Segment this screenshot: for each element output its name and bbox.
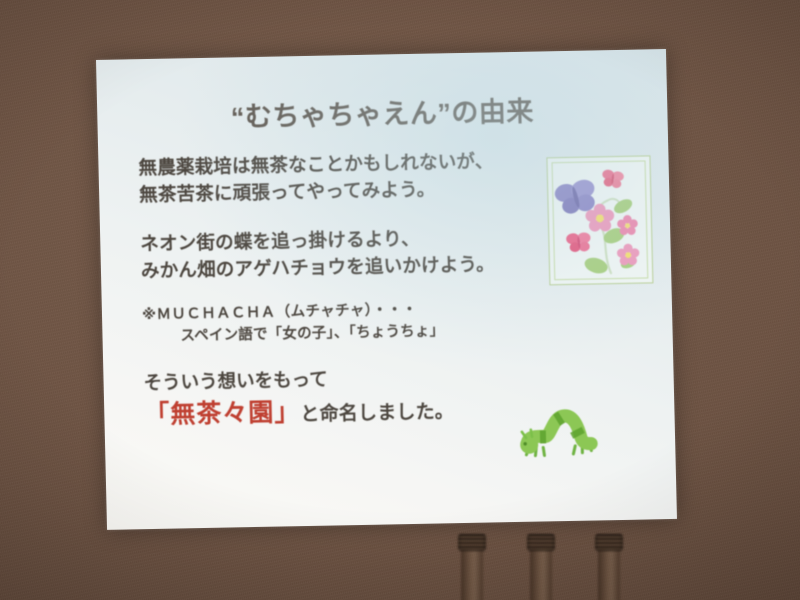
company-name-highlight: 「無茶々園」: [144, 398, 301, 429]
closing-tail: と命名しました。: [300, 401, 454, 425]
closing-line-2: 「無茶々園」と命名しました。: [144, 393, 454, 433]
bottle-2: [524, 530, 558, 600]
slide-paragraph-1: 無農薬栽培は無茶なことかもしれないが、 無茶苦茶に頑張ってやってみよう。: [138, 148, 494, 208]
bottle-1: [455, 530, 489, 600]
slide-surface: “むちゃちゃえん”の由来 無農薬栽培は無茶なことかもしれないが、 無茶苦茶に頑張…: [96, 49, 677, 530]
closing-line-1: そういう想いをもって: [143, 369, 328, 394]
bottle-neck: [598, 548, 620, 600]
slide-title: “むちゃちゃえん”の由来: [97, 87, 668, 137]
bottle-neck: [461, 548, 483, 600]
bottle-cap: [458, 534, 486, 551]
slide-footnote: ※ＭＵＣＨＡＣＨＡ（ムチャチャ）・・・ スペイン語で「女の子」、「ちょうちょ」: [142, 299, 445, 348]
bottle-3: [592, 530, 626, 600]
footnote-line-1: ※ＭＵＣＨＡＣＨＡ（ムチャチャ）・・・: [142, 302, 417, 323]
green-caterpillar-illustration: [512, 405, 609, 463]
slide-closing: そういう想いをもって 「無茶々園」と命名しました。: [143, 363, 454, 432]
bottle-cap: [527, 534, 555, 551]
bottle-cap: [595, 534, 623, 551]
bottle-neck: [530, 548, 552, 600]
photo-canvas: “むちゃちゃえん”の由来 無農薬栽培は無茶なことかもしれないが、 無茶苦茶に頑張…: [0, 0, 800, 600]
butterflies-and-flowers-illustration: [546, 155, 653, 285]
slide-paragraph-2: ネオン街の蝶を追っ掛けるより、 みかん畑のアゲハチョウを追いかけよう。: [140, 224, 495, 284]
footnote-line-2: スペイン語で「女の子」、「ちょうちょ」: [142, 321, 444, 349]
caterpillar-artwork: [512, 405, 609, 463]
butterfly-flower-artwork: [547, 156, 652, 284]
projected-slide: “むちゃちゃえん”の由来 無農薬栽培は無茶なことかもしれないが、 無茶苦茶に頑張…: [96, 49, 677, 530]
